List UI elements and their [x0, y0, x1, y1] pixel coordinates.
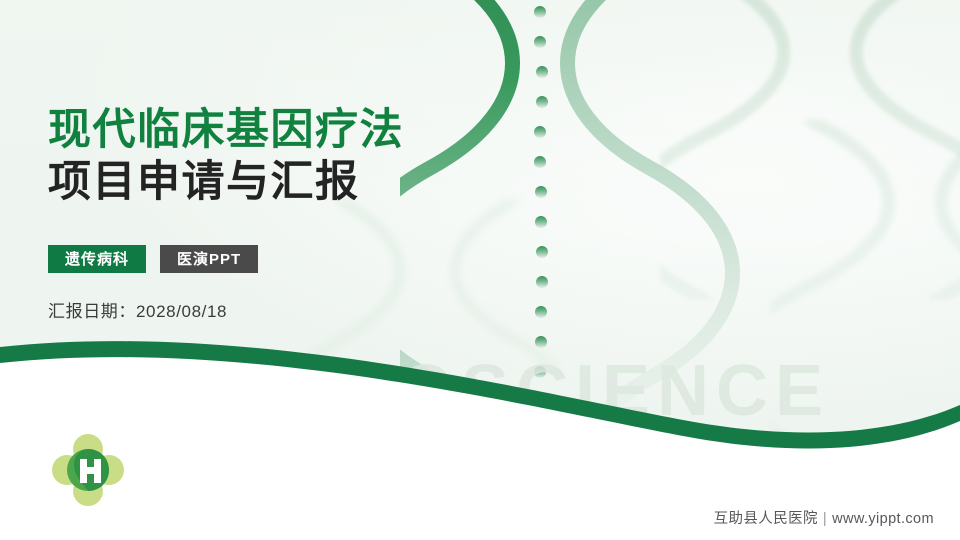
title-block: 现代临床基因疗法 项目申请与汇报 遗传病科 医演PPT 汇报日期：2028/08…	[48, 104, 508, 322]
footer: 互助县人民医院|www.yippt.com	[714, 507, 934, 528]
tag-template-type: 医演PPT	[160, 245, 258, 273]
footer-separator: |	[823, 511, 827, 527]
footer-organization: 互助县人民医院	[714, 511, 818, 527]
slide-title-line-1: 现代临床基因疗法	[48, 104, 508, 156]
presentation-slide: BIOSCIENCE 现代临床基因疗法 项目申请与	[0, 0, 960, 540]
tag-row: 遗传病科 医演PPT	[48, 245, 508, 273]
footer-website: www.yippt.com	[832, 511, 934, 527]
report-date: 汇报日期：2028/08/18	[48, 297, 508, 322]
hospital-logo	[50, 432, 126, 508]
slide-title-line-2: 项目申请与汇报	[48, 156, 508, 208]
tag-department: 遗传病科	[48, 245, 146, 273]
